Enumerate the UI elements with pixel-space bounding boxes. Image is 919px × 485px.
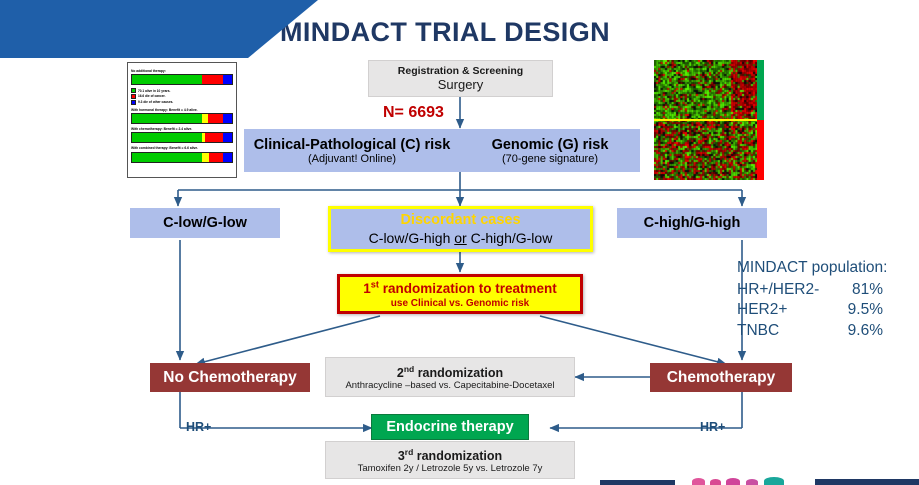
- node-registration-screening[interactable]: Registration & Screening Surgery: [368, 60, 553, 97]
- adjuvant-outcome-segment: [208, 114, 223, 123]
- node-c-low-g-low[interactable]: C-low/G-low: [130, 208, 280, 238]
- clinical-risk-line2: (Adjuvant! Online): [308, 153, 396, 165]
- heatmap-divider: [654, 119, 757, 121]
- hr-positive-label-left: HR+: [186, 420, 211, 434]
- node-chemotherapy[interactable]: Chemotherapy: [650, 363, 792, 392]
- adjuvant-therapy-group: With chemotherapy: Benefit = 2.4 alive.: [131, 127, 233, 144]
- endocrine-therapy-label: Endocrine therapy: [386, 419, 513, 435]
- population-row-value: 81%: [837, 280, 883, 301]
- genomic-risk-line1: Genomic (G) risk: [492, 137, 609, 153]
- no-chemotherapy-label: No Chemotherapy: [163, 369, 297, 387]
- footer-logo-shape: [726, 478, 740, 485]
- adjuvant-outcome-bar: [131, 132, 233, 143]
- heatmap-class-bar: [757, 60, 764, 180]
- adjuvant-legend-item: 9.3 die of other causes.: [131, 100, 233, 105]
- registration-line1: Registration & Screening: [398, 65, 523, 77]
- adjuvant-outcome-segment: [223, 75, 232, 84]
- adjuvant-outcome-bar: [131, 74, 233, 85]
- clinical-risk-line1: Clinical-Pathological (C) risk: [254, 137, 451, 153]
- adjuvant-outcome-bar: [131, 113, 233, 124]
- node-c-high-g-high[interactable]: C-high/G-high: [617, 208, 767, 238]
- population-row-label: HR+/HER2-: [737, 280, 837, 301]
- adjuvant-outcome-segment: [223, 133, 232, 142]
- heatmap-good-prognosis-band: [757, 60, 764, 120]
- adjuvant-outcome-segment: [223, 114, 232, 123]
- randomization2-line2: Anthracycline –based vs. Capecitabine-Do…: [345, 380, 554, 391]
- adjuvant-outcome-bar: [131, 152, 233, 163]
- discordant-line2: C-low/G-high or C-high/G-low: [369, 230, 553, 246]
- adjuvant-outcome-segment: [209, 153, 222, 162]
- adjuvant-outcome-segment: [223, 153, 232, 162]
- adjuvant-online-chart: No additional therapy:70.1 alive in 10 y…: [127, 62, 237, 178]
- population-row-label: HER2+: [737, 300, 837, 321]
- footer-bar-right: [815, 479, 919, 485]
- adjuvant-group-caption: With chemotherapy: Benefit = 2.4 alive.: [131, 127, 233, 131]
- adjuvant-therapy-group: With combined therapy: Benefit = 6.6 ali…: [131, 146, 233, 163]
- randomization3-line2: Tamoxifen 2y / Letrozole 5y vs. Letrozol…: [358, 463, 543, 474]
- node-discordant-cases[interactable]: Discordant cases C-low/G-high or C-high/…: [328, 206, 593, 252]
- node-randomization-3[interactable]: 3rd randomization Tamoxifen 2y / Letrozo…: [325, 441, 575, 479]
- adjuvant-outcome-segment: [132, 153, 202, 162]
- adjuvant-legend-item: 16.6 die of cancer.: [131, 94, 233, 99]
- population-row: HER2+9.5%: [737, 300, 887, 321]
- adjuvant-outcome-segment: [132, 75, 202, 84]
- adjuvant-legend: 70.1 alive in 10 years.16.6 die of cance…: [131, 88, 233, 105]
- gene-expression-heatmap: [654, 60, 764, 180]
- c-low-g-low-label: C-low/G-low: [163, 215, 247, 231]
- adjuvant-group-caption: No additional therapy:: [131, 69, 233, 73]
- adjuvant-outcome-segment: [205, 133, 223, 142]
- footer-logo-shape: [746, 479, 758, 485]
- slide-canvas: EORTC European Organisation for Research…: [0, 0, 919, 485]
- chemotherapy-label: Chemotherapy: [667, 369, 776, 387]
- adjuvant-outcome-segment: [132, 114, 202, 123]
- hr-positive-label-right: HR+: [700, 420, 725, 434]
- adjuvant-outcome-segment: [202, 75, 223, 84]
- adjuvant-legend-swatch: [131, 94, 136, 99]
- footer-logo-partial: [690, 476, 805, 485]
- footer-bar-left: [600, 480, 675, 485]
- discordant-line2-text: C-low/G-high or C-high/G-low: [369, 230, 553, 246]
- node-no-chemotherapy[interactable]: No Chemotherapy: [150, 363, 310, 392]
- node-endocrine-therapy[interactable]: Endocrine therapy: [371, 414, 529, 440]
- randomization2-line1: 2nd randomization: [397, 363, 503, 379]
- adjuvant-therapy-group: No additional therapy:: [131, 69, 233, 86]
- enrolled-count: N= 6693: [383, 104, 444, 122]
- adjuvant-group-caption: With combined therapy: Benefit = 6.6 ali…: [131, 146, 233, 150]
- adjuvant-legend-item: 70.1 alive in 10 years.: [131, 88, 233, 93]
- randomization1-line1-text: 1st randomization to treatment: [363, 281, 556, 296]
- footer-logo-shape: [764, 477, 784, 485]
- randomization2-line1-text: 2nd randomization: [397, 366, 503, 380]
- footer-logo-shape: [692, 478, 705, 485]
- population-row: TNBC9.6%: [737, 321, 887, 342]
- genomic-risk-line2: (70-gene signature): [502, 153, 598, 165]
- page-title: MINDACT TRIAL DESIGN: [255, 17, 635, 48]
- node-randomization-2[interactable]: 2nd randomization Anthracycline –based v…: [325, 357, 575, 397]
- adjuvant-legend-swatch: [131, 100, 136, 105]
- footer-logo-shape: [710, 479, 721, 485]
- population-row: HR+/HER2-81%: [737, 280, 887, 301]
- population-row-value: 9.5%: [837, 300, 883, 321]
- randomization3-line1-text: 3rd randomization: [398, 449, 502, 463]
- adjuvant-outcome-segment: [202, 153, 209, 162]
- randomization1-line1: 1st randomization to treatment: [363, 279, 556, 296]
- randomization3-line1: 3rd randomization: [398, 446, 502, 462]
- discordant-line1: Discordant cases: [400, 212, 520, 228]
- population-row-value: 9.6%: [837, 321, 883, 342]
- adjuvant-therapy-group: With hormonal therapy: Benefit = 4.9 ali…: [131, 108, 233, 125]
- population-stats: MINDACT population: HR+/HER2-81%HER2+9.5…: [737, 258, 887, 341]
- adjuvant-legend-label: 16.6 die of cancer.: [138, 94, 165, 98]
- randomization1-line2: use Clinical vs. Genomic risk: [391, 298, 529, 309]
- population-heading: MINDACT population:: [737, 258, 887, 279]
- heatmap-grid: [654, 60, 757, 180]
- adjuvant-outcome-segment: [132, 133, 202, 142]
- population-row-label: TNBC: [737, 321, 837, 342]
- c-high-g-high-label: C-high/G-high: [644, 215, 741, 231]
- adjuvant-legend-label: 9.3 die of other causes.: [138, 100, 173, 104]
- adjuvant-group-caption: With hormonal therapy: Benefit = 4.9 ali…: [131, 108, 233, 112]
- node-genomic-risk[interactable]: Genomic (G) risk (70-gene signature): [460, 129, 640, 172]
- adjuvant-legend-swatch: [131, 88, 136, 93]
- heatmap-poor-prognosis-band: [757, 120, 764, 180]
- node-clinical-risk[interactable]: Clinical-Pathological (C) risk (Adjuvant…: [244, 129, 460, 172]
- adjuvant-legend-label: 70.1 alive in 10 years.: [138, 89, 170, 93]
- registration-line2: Surgery: [438, 77, 484, 92]
- node-randomization-1[interactable]: 1st randomization to treatment use Clini…: [337, 274, 583, 314]
